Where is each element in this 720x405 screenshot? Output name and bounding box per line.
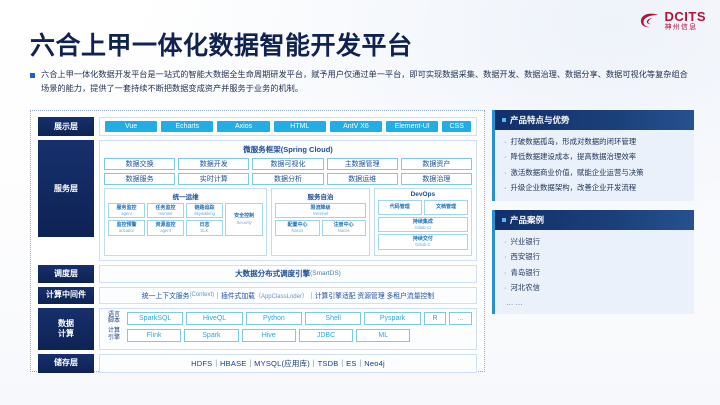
compute-scripts-label: 语言 脚本 xyxy=(104,312,124,326)
dcits-swoosh-icon xyxy=(639,11,661,31)
panel-unified-ops: 统一运维 服务监控 agent 任务监控 monitor xyxy=(104,188,267,256)
tech-tag-vue[interactable]: Vue xyxy=(105,121,157,132)
brand-name-en: DCITS xyxy=(665,10,707,23)
module-data-assets[interactable]: 数据资产 xyxy=(401,158,472,170)
layer-label-compute: 数据 计算 xyxy=(38,308,94,350)
service-support-panels: 统一运维 服务监控 agent 任务监控 monitor xyxy=(104,188,472,256)
ops-item-security-en: Security xyxy=(237,220,252,225)
engine-spark[interactable]: Spark xyxy=(184,329,238,342)
compute-scripts-label-line2: 脚本 xyxy=(104,318,124,325)
case-text-2: 西安银行 xyxy=(510,251,540,262)
ops-item-alert-en: actuator xyxy=(119,228,134,233)
script-sparksql[interactable]: SparkSQL xyxy=(127,312,183,325)
advantage-text-2: 降低数据建设成本，提高数据治理效率 xyxy=(510,151,636,162)
schedule-content: 大数据分布式调度引擎 (SmartDS) xyxy=(99,265,477,283)
panel-title-devops: DevOps xyxy=(378,191,468,198)
autonomy-item-registry-center[interactable]: 注册中心 Nacos xyxy=(322,220,366,236)
card-accent-bar xyxy=(492,210,495,314)
tech-tag-axios[interactable]: Axios xyxy=(217,121,269,132)
middleware-content: 统一上下文服务 (Context) ｜插件式加载 （AppClassLoder）… xyxy=(99,287,477,304)
tech-tag-css[interactable]: CSS xyxy=(442,121,471,132)
layer-label-middleware: 计算中间件 xyxy=(38,287,94,304)
ops-item-task-monitor[interactable]: 任务监控 monitor xyxy=(147,203,184,219)
middleware-context-code: (Context) xyxy=(189,292,214,298)
tech-tag-echarts[interactable]: Echarts xyxy=(161,121,213,132)
ops-item-security[interactable]: 安全控制 Security xyxy=(225,203,263,236)
middleware-plugin-loader: ｜插件式加载 xyxy=(214,290,255,300)
ops-item-alert[interactable]: 监控预警 actuator xyxy=(108,220,145,236)
service-content: 微服务框架(Spring Cloud) 数据交换 数据开发 数据可视化 主数据管… xyxy=(99,140,477,261)
compute-engines-row: 计算 引擎 Flink Spark Hive JDBC ML xyxy=(104,328,472,342)
autonomy-items: 配置中心 Nacos 注册中心 Nacos xyxy=(275,220,365,236)
card-bullet-square-icon xyxy=(502,218,506,222)
card-accent-bar xyxy=(492,110,495,201)
tech-tag-element-ui[interactable]: Element-UI xyxy=(386,121,438,132)
card-advantages: 产品特点与优势 · 打破数据孤岛，形成对数据的闭环管理 · 降低数据建设成本，提… xyxy=(492,110,694,201)
card-header-advantages: 产品特点与优势 xyxy=(492,110,694,130)
devops-item-code-management[interactable]: 代码管理 xyxy=(378,200,422,215)
tech-tag-html[interactable]: HTML xyxy=(274,121,326,132)
ops-body: 服务监控 agent 任务监控 monitor 链路追踪 Skywalking xyxy=(108,203,263,236)
devops-item-doc-management[interactable]: 文档管理 xyxy=(424,200,468,215)
script-hiveql[interactable]: HiveQL xyxy=(186,312,242,325)
panel-title-service-autonomy: 服务自治 xyxy=(275,191,365,201)
ops-item-service-monitor[interactable]: 服务监控 agent xyxy=(108,203,145,219)
dot-icon: · xyxy=(504,151,506,162)
dot-icon: · xyxy=(504,167,506,178)
advantage-text-3: 激活数据商业价值，赋能企业运营与决策 xyxy=(510,167,643,178)
case-item-3: · 青岛银行 xyxy=(504,267,686,278)
layer-label-compute-line1: 数据 xyxy=(58,319,74,329)
case-text-4: 河北农信 xyxy=(510,282,540,293)
advantage-item-4: · 升级企业数据架构，改善企业开发流程 xyxy=(504,182,686,193)
brand-logo: DCITS 神州信息 xyxy=(639,10,707,31)
brand-name-cn: 神州信息 xyxy=(665,24,707,31)
panel-service-autonomy: 服务自治 限流降级 Sentinel 配置中心 Nacos 注册中心 xyxy=(271,188,369,256)
advantage-text-1: 打破数据孤岛，形成对数据的闭环管理 xyxy=(510,136,636,147)
card-title-advantages: 产品特点与优势 xyxy=(510,114,570,126)
module-data-governance[interactable]: 数据治理 xyxy=(401,173,472,185)
devops-item-ci[interactable]: 持续集成 Gitlab-CI xyxy=(378,217,468,233)
ops-item-log-en: ELK xyxy=(201,228,209,233)
layer-label-service: 服务层 xyxy=(38,140,94,237)
dot-icon: · xyxy=(504,282,506,293)
middleware-plugin-code: （AppClassLoder） xyxy=(255,291,308,300)
dot-icon: · xyxy=(504,251,506,262)
module-data-visualization[interactable]: 数据可视化 xyxy=(252,158,323,170)
layer-label-schedule: 调度层 xyxy=(38,265,94,283)
layer-label-presentation: 展示层 xyxy=(38,117,94,136)
presentation-tags: Vue Echarts Axios HTML AntV X6 Element-U… xyxy=(100,118,476,135)
slide-canvas: DCITS 神州信息 六合上甲一体化数据智能开发平台 六合上甲一体化数据开发平台… xyxy=(0,0,720,405)
card-cases: 产品案例 · 兴业银行 · 西安银行 · 青岛银行 · 河北农信 xyxy=(492,210,694,314)
autonomy-item-config-center[interactable]: 配置中心 Nacos xyxy=(275,220,319,236)
script-more[interactable]: ... xyxy=(449,312,472,325)
module-data-development[interactable]: 数据开发 xyxy=(178,158,249,170)
case-text-3: 青岛银行 xyxy=(510,267,540,278)
layer-storage: 储存层 HDFS｜HBASE｜MYSQL(应用库)｜TSDB｜ES｜Neo4j xyxy=(38,354,477,373)
compute-content: 语言 脚本 SparkSQL HiveQL Python Shell Pyspa… xyxy=(99,308,477,350)
schedule-engine-name: 大数据分布式调度引擎 xyxy=(235,268,310,279)
storage-technologies: HDFS｜HBASE｜MYSQL(应用库)｜TSDB｜ES｜Neo4j xyxy=(100,355,476,372)
module-master-data-management[interactable]: 主数据管理 xyxy=(327,158,398,170)
autonomy-item-registry-center-en: Nacos xyxy=(338,228,350,233)
engine-flink[interactable]: Flink xyxy=(127,329,181,342)
devops-item-ci-en: Gitlab-CI xyxy=(415,225,432,230)
service-modules-row-2: 数据服务 实时计算 数据分析 数据运维 数据治理 xyxy=(104,173,472,185)
middleware-misc: ｜计算引擎适配 资源管理 多租户流量控制 xyxy=(308,290,434,300)
autonomy-item-config-center-en: Nacos xyxy=(292,228,304,233)
ops-item-service-monitor-en: agent xyxy=(121,211,131,216)
dot-icon: · xyxy=(504,182,506,193)
architecture-diagram: 展示层 Vue Echarts Axios HTML AntV X6 Eleme… xyxy=(30,110,485,372)
page-title: 六合上甲一体化数据智能开发平台 xyxy=(30,26,413,62)
ops-items: 服务监控 agent 任务监控 monitor 链路追踪 Skywalking xyxy=(108,203,223,236)
script-r[interactable]: R xyxy=(424,312,447,325)
module-data-exchange[interactable]: 数据交换 xyxy=(104,158,175,170)
dot-icon: · xyxy=(504,236,506,247)
ops-item-trace-en: Skywalking xyxy=(194,211,215,216)
sidebar: 产品特点与优势 · 打破数据孤岛，形成对数据的闭环管理 · 降低数据建设成本，提… xyxy=(492,110,694,372)
card-bullet-square-icon xyxy=(502,118,506,122)
script-python[interactable]: Python xyxy=(246,312,302,325)
layer-label-compute-line2: 计算 xyxy=(58,329,74,339)
presentation-content: Vue Echarts Axios HTML AntV X6 Element-U… xyxy=(99,117,477,136)
module-data-analysis[interactable]: 数据分析 xyxy=(252,173,323,185)
devops-item-cd-en: Gitlab-C xyxy=(415,242,430,247)
advantage-text-4: 升级企业数据架构，改善企业开发流程 xyxy=(510,182,636,193)
card-body-advantages: · 打破数据孤岛，形成对数据的闭环管理 · 降低数据建设成本，提高数据治理效率 … xyxy=(492,130,694,201)
module-realtime-compute[interactable]: 实时计算 xyxy=(178,173,249,185)
dot-icon: · xyxy=(504,136,506,147)
schedule-engine-title: 大数据分布式调度引擎 (SmartDS) xyxy=(100,266,476,282)
script-pyspark[interactable]: Pyspark xyxy=(364,312,420,325)
devops-item-cd[interactable]: 持续交付 Gitlab-C xyxy=(378,234,468,250)
module-data-operations[interactable]: 数据运维 xyxy=(327,173,398,185)
card-body-cases: · 兴业银行 · 西安银行 · 青岛银行 · 河北农信 …… xyxy=(492,230,694,314)
schedule-engine-code: (SmartDS) xyxy=(310,270,341,277)
tech-tag-antv-x6[interactable]: AntV X6 xyxy=(330,121,382,132)
ops-item-resource-monitor[interactable]: 资源监控 agent xyxy=(147,220,184,236)
engine-jdbc[interactable]: JDBC xyxy=(299,329,353,342)
compute-engines-label-line2: 引擎 xyxy=(104,335,124,342)
ops-item-resource-monitor-en: agent xyxy=(160,228,170,233)
ops-item-trace[interactable]: 链路追踪 Skywalking xyxy=(186,203,223,219)
autonomy-item-sentinel[interactable]: 限流降级 Sentinel xyxy=(275,203,365,219)
engine-ml[interactable]: ML xyxy=(356,329,410,342)
ops-item-log[interactable]: 日志 ELK xyxy=(186,220,223,236)
layer-presentation: 展示层 Vue Echarts Axios HTML AntV X6 Eleme… xyxy=(38,117,477,136)
compute-scripts-row: 语言 脚本 SparkSQL HiveQL Python Shell Pyspa… xyxy=(104,312,472,326)
layer-middleware: 计算中间件 统一上下文服务 (Context) ｜插件式加载 （AppClass… xyxy=(38,287,477,304)
panel-devops: DevOps 代码管理 文档管理 持续集成 Gitlab-CI xyxy=(374,188,472,256)
advantage-item-3: · 激活数据商业价值，赋能企业运营与决策 xyxy=(504,167,686,178)
case-more-indicator: …… xyxy=(504,298,686,307)
intro-paragraph: 六合上甲一体化数据开发平台是一站式的智能大数据全生命周期研发平台，赋予用户仅通过… xyxy=(30,68,690,97)
panel-title-unified-ops: 统一运维 xyxy=(108,191,263,201)
layer-service: 服务层 微服务框架(Spring Cloud) 数据交换 数据开发 数据可视化 … xyxy=(38,140,477,261)
case-item-2: · 西安银行 xyxy=(504,251,686,262)
compute-engines-label: 计算 引擎 xyxy=(104,328,124,342)
microservice-framework-title: 微服务框架(Spring Cloud) xyxy=(104,144,472,155)
autonomy-item-sentinel-en: Sentinel xyxy=(313,211,328,216)
middleware-context-service: 统一上下文服务 xyxy=(142,290,190,300)
layer-schedule: 调度层 大数据分布式调度引擎 (SmartDS) xyxy=(38,265,477,283)
engine-hive[interactable]: Hive xyxy=(242,329,296,342)
layer-label-storage: 储存层 xyxy=(38,354,94,373)
card-header-cases: 产品案例 xyxy=(492,210,694,230)
advantage-item-2: · 降低数据建设成本，提高数据治理效率 xyxy=(504,151,686,162)
dot-icon: · xyxy=(504,267,506,278)
case-item-1: · 兴业银行 xyxy=(504,236,686,247)
service-modules-row-1: 数据交换 数据开发 数据可视化 主数据管理 数据资产 xyxy=(104,158,472,170)
devops-top-items: 代码管理 文档管理 xyxy=(378,200,468,215)
middleware-capabilities: 统一上下文服务 (Context) ｜插件式加载 （AppClassLoder）… xyxy=(100,288,476,303)
case-item-4: · 河北农信 xyxy=(504,282,686,293)
intro-text: 六合上甲一体化数据开发平台是一站式的智能大数据全生命周期研发平台，赋予用户仅通过… xyxy=(41,68,690,97)
bullet-square-icon xyxy=(30,73,35,78)
module-data-service[interactable]: 数据服务 xyxy=(104,173,175,185)
card-title-cases: 产品案例 xyxy=(510,214,544,226)
devops-item-code-management-cn: 代码管理 xyxy=(390,204,410,210)
case-text-1: 兴业银行 xyxy=(510,236,540,247)
ops-item-task-monitor-en: monitor xyxy=(159,211,173,216)
script-shell[interactable]: Shell xyxy=(305,312,361,325)
advantage-item-1: · 打破数据孤岛，形成对数据的闭环管理 xyxy=(504,136,686,147)
devops-item-doc-management-cn: 文档管理 xyxy=(436,204,456,210)
layer-compute: 数据 计算 语言 脚本 SparkSQL HiveQL Python Shell… xyxy=(38,308,477,350)
ops-security-wrap: 安全控制 Security xyxy=(225,203,263,236)
storage-content: HDFS｜HBASE｜MYSQL(应用库)｜TSDB｜ES｜Neo4j xyxy=(99,354,477,373)
